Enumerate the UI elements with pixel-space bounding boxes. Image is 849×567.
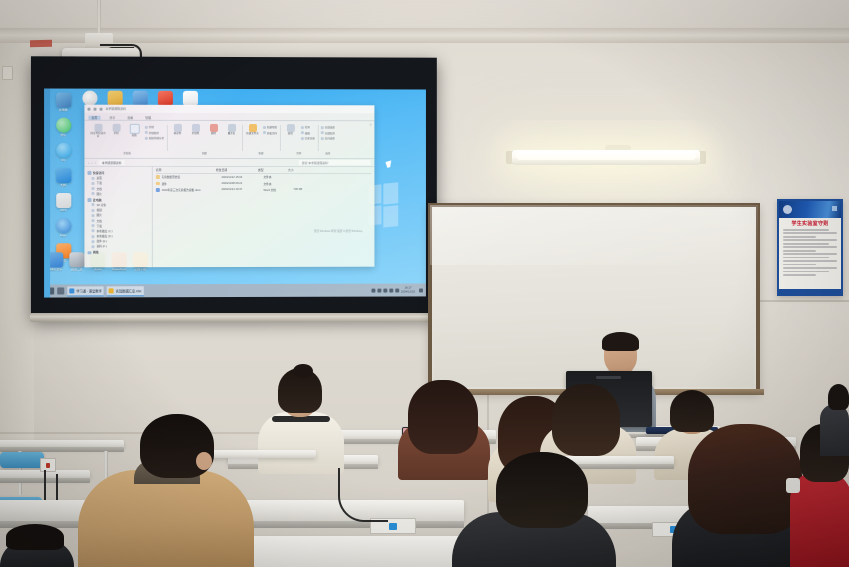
paste-shortcut-command[interactable]: 粘贴快捷方式: [145, 136, 164, 140]
ribbon-group-title: 剪贴板: [123, 151, 131, 155]
properties-quick-icon[interactable]: [100, 107, 103, 110]
ribbon-group-organize: 移动到 复制到 删除: [167, 124, 242, 155]
forward-icon[interactable]: ›: [91, 160, 92, 164]
move-to-button[interactable]: 移动到: [170, 124, 185, 136]
student-body: [78, 470, 254, 567]
nav-group-network[interactable]: 网络: [87, 251, 149, 255]
poster-footer-band: [779, 289, 841, 294]
file-name: 实验数据原始表: [161, 175, 221, 179]
nav-item-drive-f[interactable]: 资料 (F:): [91, 245, 149, 249]
back-icon[interactable]: ‹: [88, 160, 89, 164]
ribbon-button-label: 复制到: [192, 133, 200, 136]
properties-button[interactable]: 属性: [283, 124, 298, 136]
file-date: 2024/11/14 10:37: [221, 188, 263, 191]
desktop-icon-wps[interactable]: WPS: [48, 193, 78, 212]
windows-taskbar[interactable]: 学习通 - 课堂教学 实验数据汇总.xlsx 16:17 2024/11/15: [44, 283, 426, 297]
student-hair-bun: [293, 364, 313, 378]
move-icon: [173, 124, 181, 132]
rename-button[interactable]: 重命名: [224, 124, 239, 136]
tray-ime-icon[interactable]: [389, 288, 393, 292]
taskbar-app-icon: [109, 288, 114, 293]
nav-item-3d-objects[interactable]: 3D 对象: [91, 203, 149, 207]
wall-molding: [0, 28, 849, 44]
taskbar-clock[interactable]: 16:17 2024/11/15: [401, 287, 417, 294]
student-hair: [496, 452, 588, 528]
fluorescent-tube-light: [512, 150, 700, 165]
new-folder-icon: [249, 124, 257, 132]
monitor-brand-label: [596, 376, 621, 379]
tray-chevron-icon[interactable]: [371, 288, 375, 292]
outlet-indicator-icon: [46, 463, 50, 468]
whiteboard: [428, 203, 760, 393]
desktop-icon-chrome[interactable]: [82, 91, 97, 106]
ribbon-group-clipboard: 固定到快速访问 复制 粘贴 剪切: [87, 124, 166, 155]
ribbon-button-label: 粘贴: [132, 135, 137, 138]
explorer-search-input[interactable]: 搜索“本学期课程资料”: [299, 160, 371, 165]
file-date: 2024/11/08 09:21: [221, 182, 263, 185]
new-mini-commands: 新建项目 轻松访问: [263, 124, 277, 135]
nav-item-drive-e[interactable]: 软件 (E:): [91, 239, 149, 243]
word-document-icon: [156, 188, 160, 192]
select-mini-commands: 全部选择 全部取消 反向选择: [321, 124, 335, 140]
explorer-address-bar[interactable]: ‹ › ↑ 本学期课程资料 搜索“本学期课程资料”: [84, 159, 374, 167]
file-date: 2024/11/12 15:04: [221, 176, 263, 179]
file-name: 2024年第三次实验报告模板.docx: [161, 188, 221, 192]
properties-icon: [286, 124, 294, 132]
desktop-icon-label: QQ: [61, 159, 65, 162]
device-cable: [338, 468, 388, 522]
file-explorer-window[interactable]: 本学期课程资料 主页 共享 查看 管理 ? 固定到快速访问: [84, 105, 374, 268]
taskbar-app-1[interactable]: 学习通 - 课堂教学: [67, 286, 103, 296]
poster-body-text: [779, 228, 841, 279]
explorer-ribbon[interactable]: ? 固定到快速访问 复制: [84, 121, 374, 159]
nav-item-videos[interactable]: 视频: [91, 208, 149, 212]
explorer-body: 快速访问 桌面 下载 文档 图片 此电脑 3D 对象 视频 图片 文档 下载 本…: [84, 167, 374, 267]
student-hair-short: [670, 390, 714, 432]
nav-item-documents[interactable]: 文档: [91, 187, 149, 191]
student-body: [820, 404, 849, 456]
folder-icon: [156, 182, 160, 186]
desktop-icon-stats[interactable]: [133, 91, 148, 106]
classroom-scene: 此电脑 微信 QQ 知网 WPS: [0, 0, 849, 567]
tray-volume-icon[interactable]: [383, 288, 387, 292]
new-folder-quick-icon[interactable]: [94, 107, 97, 110]
desktop-icon-edge[interactable]: Edge: [48, 218, 78, 237]
screen-edge-strip: [44, 88, 50, 297]
ribbon-group-title: 打开: [296, 151, 301, 155]
new-folder-button[interactable]: 新建文件夹: [245, 124, 260, 136]
copy-path-command[interactable]: 复制路径: [145, 130, 164, 134]
action-center-icon[interactable]: [419, 288, 423, 292]
cut-command[interactable]: 剪切: [145, 125, 164, 129]
address-nav-buttons[interactable]: ‹ › ↑: [88, 160, 95, 164]
copyto-icon: [191, 124, 199, 132]
file-type: 文件夹: [263, 175, 293, 179]
near-desk-center: [206, 450, 316, 458]
system-tray[interactable]: 16:17 2024/11/15: [371, 287, 423, 294]
nav-item-downloads-pc[interactable]: 下载: [91, 224, 149, 228]
taskbar-app-2[interactable]: 实验数据汇总.xlsx: [107, 286, 144, 296]
wall-socket: [2, 66, 13, 80]
address-path[interactable]: 本学期课程资料: [99, 160, 125, 165]
taskbar-search-icon[interactable]: [57, 287, 64, 294]
desktop-icon-label: 截图工具: [71, 268, 82, 271]
classroom-chair[interactable]: [0, 452, 44, 468]
nav-item-drive-c[interactable]: 本地磁盘 (C:): [91, 229, 149, 233]
upper-wall: [0, 0, 849, 30]
ribbon-group-select: 全部选择 全部取消 反向选择 选择: [318, 124, 338, 155]
desktop-icon-doc[interactable]: [183, 91, 198, 106]
tab-view[interactable]: 查看: [124, 116, 136, 120]
easy-access-command[interactable]: 轻松访问: [263, 131, 277, 135]
tab-manage[interactable]: 管理: [142, 116, 154, 120]
tray-network-icon[interactable]: [377, 288, 381, 292]
student-ear: [196, 452, 212, 470]
nav-item-pictures-pc[interactable]: 图片: [91, 213, 149, 217]
column-header-size[interactable]: 大小: [288, 168, 312, 172]
desktop-icon-label: Edge: [60, 235, 67, 238]
column-header-name[interactable]: 名称: [156, 168, 216, 172]
file-type: Word 文档: [263, 188, 293, 192]
ribbon-help-icon[interactable]: ?: [370, 123, 372, 127]
desktop-icon-top-row: [82, 91, 198, 106]
folder-icon: [156, 175, 160, 179]
tray-battery-icon[interactable]: [395, 288, 399, 292]
taskbar-app-label: 实验数据汇总.xlsx: [116, 288, 142, 293]
student-hair-long: [552, 384, 620, 456]
column-header-type[interactable]: 类型: [258, 168, 288, 172]
desktop-icon-wps-writer[interactable]: WPS 文字: [48, 252, 63, 271]
desktop-icon-wps-top[interactable]: [158, 91, 173, 106]
nav-item-downloads[interactable]: 下载: [91, 181, 149, 185]
history-command[interactable]: 历史记录: [301, 136, 315, 140]
ribbon-group-open: 属性 打开 编辑 历史记录 打开: [280, 124, 318, 155]
ribbon-button-label: 新建文件夹: [246, 133, 259, 136]
desktop-icon-snip-tool[interactable]: 截图工具: [69, 252, 84, 271]
column-header-date[interactable]: 修改日期: [216, 168, 258, 172]
projection-screen: 此电脑 微信 QQ 知网 WPS: [31, 56, 437, 318]
screen-bottom-rail: [30, 313, 442, 322]
taskbar-app-label: 学习通 - 课堂教学: [76, 288, 101, 293]
desktop-icon-cnki[interactable]: 知网: [48, 168, 78, 187]
poster-title: 学生实验室守则: [779, 218, 841, 228]
light-tube: [516, 152, 696, 160]
rename-icon: [228, 124, 236, 132]
desktop-icon-folder[interactable]: [108, 91, 123, 106]
nav-item-drive-d[interactable]: 本地磁盘 (D:): [91, 234, 149, 238]
paste-icon: [129, 124, 139, 134]
new-item-command[interactable]: 新建项目: [263, 125, 277, 129]
student-wristwatch: [786, 478, 800, 493]
ribbon-button-label: 删除: [211, 133, 216, 136]
desktop-icon-label: 此电脑: [59, 109, 67, 112]
nav-item-desktop[interactable]: 桌面: [91, 176, 149, 180]
desktop-icon-label: 知网: [60, 184, 66, 187]
socket-strip-indicator-icon: [389, 523, 397, 530]
ribbon-button-label: 属性: [288, 133, 293, 136]
wall-sticker: [30, 40, 52, 47]
file-type: 文件夹: [263, 182, 293, 186]
delete-button[interactable]: 删除: [206, 124, 221, 136]
select-none-command[interactable]: 全部取消: [321, 131, 335, 135]
clipboard-mini-commands: 剪切 复制路径 粘贴快捷方式: [145, 124, 164, 140]
desktop-icon-label: 迅雷下载: [135, 268, 146, 271]
desktop-icon-label: Excel: [95, 268, 102, 271]
desktop-icon-wechat[interactable]: 微信: [48, 118, 78, 137]
copy-button[interactable]: 复制: [109, 124, 124, 136]
copy-to-button[interactable]: 复制到: [188, 124, 203, 136]
nav-group-this-pc[interactable]: 此电脑: [87, 198, 149, 202]
ribbon-button-label: 固定到快速访问: [90, 133, 105, 139]
pin-icon: [94, 124, 102, 132]
taskbar-app-icon: [69, 288, 74, 293]
explorer-file-list[interactable]: 名称 修改日期 类型 大小 实验数据原始表 2024/11/12 15:04 文…: [153, 167, 375, 267]
desktop-icon-qq[interactable]: QQ: [48, 143, 78, 162]
tab-home[interactable]: 主页: [88, 116, 100, 120]
poster-header-banner: [779, 201, 841, 218]
ribbon-group-title: 组织: [202, 151, 207, 155]
select-all-command[interactable]: 全部选择: [321, 125, 335, 129]
desktop-icon-label: 微信: [60, 134, 66, 137]
poster-corner-mark-icon: [832, 206, 837, 211]
mouse-cursor-icon: [386, 160, 393, 168]
poster-emblem-icon: [783, 205, 792, 214]
wall-poster: 学生实验室守则: [777, 199, 843, 296]
student-hair-long: [408, 380, 478, 454]
invert-selection-command[interactable]: 反向选择: [321, 136, 335, 140]
tab-share[interactable]: 共享: [106, 116, 118, 120]
ribbon-button-label: 复制: [114, 133, 119, 136]
ribbon-button-label: 移动到: [174, 133, 182, 136]
nav-item-documents-pc[interactable]: 文档: [91, 219, 149, 223]
student-hair: [6, 524, 64, 550]
open-mini-commands: 打开 编辑 历史记录: [301, 124, 315, 140]
file-size: 736 KB: [293, 188, 317, 191]
clock-date: 2024/11/15: [401, 290, 415, 293]
table-row[interactable]: 2024年第三次实验报告模板.docx 2024/11/14 10:37 Wor…: [156, 187, 372, 193]
nav-group-quick-access[interactable]: 快速访问: [87, 171, 149, 175]
left-wall-panel: [0, 43, 34, 463]
file-name: 课件: [161, 182, 221, 186]
paste-button[interactable]: 粘贴: [127, 124, 142, 138]
desktop-icon-label: WPS: [60, 209, 66, 212]
desktop-icon-label: PowerPoint: [112, 268, 126, 271]
nav-item-pictures[interactable]: 图片: [91, 192, 149, 196]
desktop-icon-column: 此电脑 微信 QQ 知网 WPS: [48, 93, 78, 269]
desktop-icon-label: WPS 文字: [49, 268, 62, 271]
explorer-window-title: 本学期课程资料: [106, 107, 126, 111]
projected-desktop[interactable]: 此电脑 微信 QQ 知网 WPS: [44, 88, 426, 297]
delete-icon: [210, 124, 218, 132]
whiteboard-surface[interactable]: [434, 209, 754, 387]
projector-mount-pipe: [97, 0, 101, 36]
pin-to-quick-access-button[interactable]: 固定到快速访问: [90, 124, 105, 139]
up-icon[interactable]: ↑: [94, 160, 95, 164]
quick-access-toolbar-icon[interactable]: [87, 107, 90, 110]
ribbon-group-title: 新建: [258, 151, 263, 155]
student-hair-long: [688, 424, 802, 534]
ribbon-group-title: 选择: [325, 151, 330, 155]
instructor-hair: [602, 332, 639, 351]
windows-activation-watermark: 激活 Windows 转到“设置”以激活 Windows。: [314, 229, 365, 233]
student-hair: [828, 384, 849, 410]
desktop-icon-this-pc[interactable]: 此电脑: [48, 93, 78, 112]
ribbon-button-label: 重命名: [228, 133, 236, 136]
edit-command[interactable]: 编辑: [301, 131, 315, 135]
explorer-navigation-pane[interactable]: 快速访问 桌面 下载 文档 图片 此电脑 3D 对象 视频 图片 文档 下载 本…: [84, 167, 152, 267]
open-command[interactable]: 打开: [301, 125, 315, 129]
ribbon-group-new: 新建文件夹 新建项目 轻松访问 新建: [242, 124, 280, 155]
copy-icon: [112, 124, 120, 132]
